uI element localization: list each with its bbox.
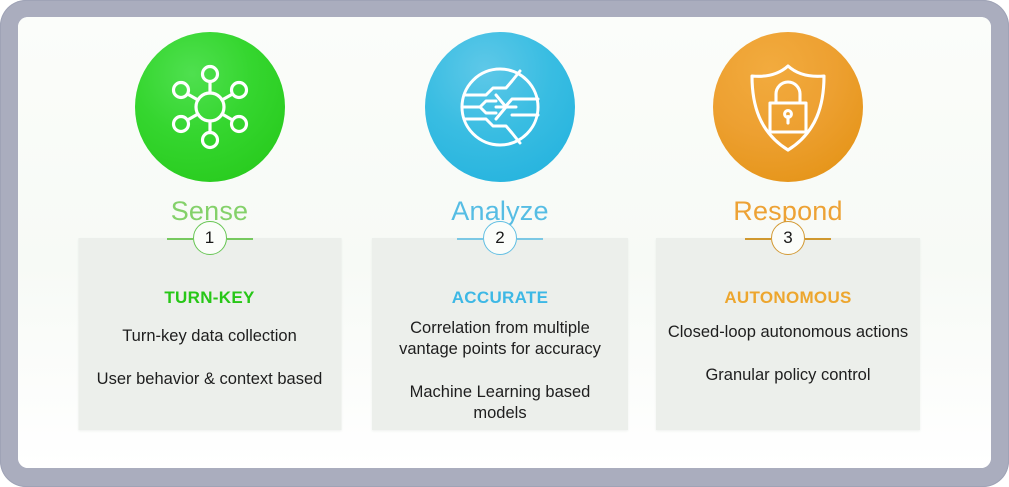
step-badge-3[interactable]: 3: [771, 221, 805, 255]
card-body-sense: Turn-key data collection User behavior &…: [87, 326, 332, 412]
card-line: Closed-loop autonomous actions: [665, 322, 911, 343]
card-title-analyze: ACCURATE: [372, 288, 628, 308]
slide-canvas: Sense 1 TURN-KEY Turn-key data collectio…: [18, 17, 991, 468]
card-line: Machine Learning based models: [381, 382, 619, 424]
connector-line-right-1: [227, 238, 253, 240]
card-line: Turn-key data collection: [87, 326, 332, 347]
sense-icon-circle[interactable]: [135, 32, 285, 182]
stages-row: Sense 1 TURN-KEY Turn-key data collectio…: [18, 17, 991, 468]
connector-line-left-2: [457, 238, 483, 240]
stage-column-analyze[interactable]: Analyze 2 ACCURATE Correlation from mult…: [372, 17, 628, 468]
step-badge-1[interactable]: 1: [193, 221, 227, 255]
connector-line-left-1: [167, 238, 193, 240]
step-badge-2[interactable]: 2: [483, 221, 517, 255]
slide-frame: Sense 1 TURN-KEY Turn-key data collectio…: [0, 0, 1009, 487]
card-body-respond: Closed-loop autonomous actions Granular …: [665, 322, 911, 408]
respond-icon-circle[interactable]: [713, 32, 863, 182]
card-line: Correlation from multiple vantage points…: [381, 318, 619, 360]
card-line: Granular policy control: [665, 365, 911, 386]
card-respond[interactable]: AUTONOMOUS Closed-loop autonomous action…: [656, 238, 920, 430]
stage-column-respond[interactable]: Respond 3 AUTONOMOUS Closed-loop autonom…: [656, 17, 920, 468]
card-sense[interactable]: TURN-KEY Turn-key data collection User b…: [78, 238, 341, 430]
card-analyze[interactable]: ACCURATE Correlation from multiple vanta…: [372, 238, 628, 430]
connector-line-right-2: [517, 238, 543, 240]
connector-line-right-3: [805, 238, 831, 240]
card-title-respond: AUTONOMOUS: [656, 288, 920, 308]
slide-inner: Sense 1 TURN-KEY Turn-key data collectio…: [18, 17, 991, 468]
card-title-sense: TURN-KEY: [78, 288, 341, 308]
card-body-analyze: Correlation from multiple vantage points…: [381, 318, 619, 446]
analyze-icon-circle[interactable]: [425, 32, 575, 182]
connector-line-left-3: [745, 238, 771, 240]
card-line: User behavior & context based: [87, 369, 332, 390]
stage-column-sense[interactable]: Sense 1 TURN-KEY Turn-key data collectio…: [78, 17, 341, 468]
